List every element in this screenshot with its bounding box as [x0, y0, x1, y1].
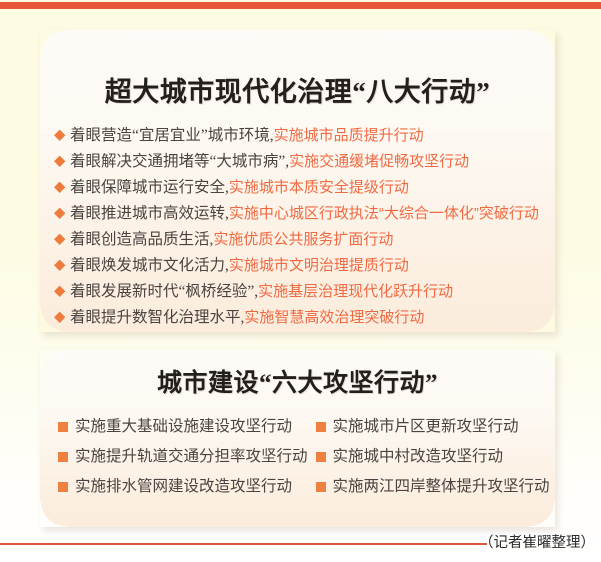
list-item: 实施提升轨道交通分担率攻坚行动: [58, 442, 308, 472]
list-item-accent: 实施城市本质安全提级行动: [229, 175, 409, 201]
list-item: 着眼创造高品质生活, 实施优质公共服务扩面行动: [55, 227, 545, 253]
list-item-accent: 实施城市品质提升行动: [274, 123, 424, 149]
list-item: 着眼发展新时代“枫桥经验”, 实施基层治理现代化跃升行动: [55, 279, 545, 305]
diamond-bullet-icon: [54, 312, 65, 323]
eight-actions-list: 着眼营造“宜居宜业”城市环境, 实施城市品质提升行动 着眼解决交通拥堵等“大城市…: [55, 123, 545, 331]
list-item-lead: 着眼提升数智化治理水平,: [70, 305, 244, 331]
diamond-bullet-icon: [54, 234, 65, 245]
diamond-bullet-icon: [54, 286, 65, 297]
card-one-title: 超大城市现代化治理“八大行动”: [40, 75, 555, 109]
list-item-lead: 着眼创造高品质生活,: [70, 227, 213, 253]
list-item-accent: 实施中心城区行政执法“大综合一体化”突破行动: [229, 201, 539, 227]
list-item-lead: 着眼营造“宜居宜业”城市环境,: [70, 123, 274, 149]
list-item: 着眼解决交通拥堵等“大城市病”, 实施交通缓堵促畅攻坚行动: [55, 149, 545, 175]
square-bullet-icon: [316, 422, 326, 432]
list-item-accent: 实施交通缓堵促畅攻坚行动: [289, 149, 469, 175]
six-actions-columns: 实施重大基础设施建设攻坚行动 实施提升轨道交通分担率攻坚行动 实施排水管网建设改…: [58, 412, 543, 502]
list-item-accent: 实施优质公共服务扩面行动: [213, 227, 393, 253]
list-item-label: 实施重大基础设施建设攻坚行动: [75, 412, 292, 442]
diamond-bullet-icon: [54, 260, 65, 271]
byline-credit: （记者崔曜整理）: [479, 534, 595, 552]
card-two-title: 城市建设“六大攻坚行动”: [40, 368, 555, 400]
list-item-accent: 实施基层治理现代化跃升行动: [258, 279, 453, 305]
list-item: 实施重大基础设施建设攻坚行动: [58, 412, 308, 442]
list-item-lead: 着眼焕发城市文化活力,: [70, 253, 229, 279]
list-item-accent: 实施智慧高效治理突破行动: [244, 305, 424, 331]
card-notch-bottom-right-icon: [529, 501, 555, 527]
list-item-lead: 着眼保障城市运行安全,: [70, 175, 229, 201]
list-item: 着眼推进城市高效运转, 实施中心城区行政执法“大综合一体化”突破行动: [55, 201, 545, 227]
list-item-label: 实施提升轨道交通分担率攻坚行动: [75, 442, 308, 472]
square-bullet-icon: [58, 452, 68, 462]
list-item: 实施城中村改造攻坚行动: [316, 442, 550, 472]
list-item-label: 实施城中村改造攻坚行动: [333, 442, 504, 472]
list-item: 实施两江四岸整体提升攻坚行动: [316, 472, 550, 502]
card-notch-bottom-left-icon: [40, 501, 66, 527]
list-item: 着眼营造“宜居宜业”城市环境, 实施城市品质提升行动: [55, 123, 545, 149]
list-item: 着眼焕发城市文化活力, 实施城市文明治理提质行动: [55, 253, 545, 279]
diamond-bullet-icon: [54, 182, 65, 193]
list-item: 实施排水管网建设改造攻坚行动: [58, 472, 308, 502]
list-item-label: 实施两江四岸整体提升攻坚行动: [333, 472, 550, 502]
top-accent-bar: [0, 2, 601, 9]
diamond-bullet-icon: [54, 130, 65, 141]
diamond-bullet-icon: [54, 208, 65, 219]
card-notch-top-right-icon: [529, 30, 555, 56]
footer-divider: [0, 543, 487, 545]
list-item-lead: 着眼解决交通拥堵等“大城市病”,: [70, 149, 289, 175]
square-bullet-icon: [316, 482, 326, 492]
six-actions-right-column: 实施城市片区更新攻坚行动 实施城中村改造攻坚行动 实施两江四岸整体提升攻坚行动: [316, 412, 550, 502]
six-actions-left-column: 实施重大基础设施建设攻坚行动 实施提升轨道交通分担率攻坚行动 实施排水管网建设改…: [58, 412, 308, 502]
list-item-accent: 实施城市文明治理提质行动: [229, 253, 409, 279]
diamond-bullet-icon: [54, 156, 65, 167]
list-item-lead: 着眼推进城市高效运转,: [70, 201, 229, 227]
list-item-lead: 着眼发展新时代“枫桥经验”,: [70, 279, 258, 305]
square-bullet-icon: [316, 452, 326, 462]
card-notch-top-left-icon: [40, 30, 66, 56]
list-item: 实施城市片区更新攻坚行动: [316, 412, 550, 442]
square-bullet-icon: [58, 482, 68, 492]
list-item: 着眼保障城市运行安全, 实施城市本质安全提级行动: [55, 175, 545, 201]
list-item-label: 实施排水管网建设改造攻坚行动: [75, 472, 292, 502]
card-six-actions: 城市建设“六大攻坚行动” 实施重大基础设施建设攻坚行动 实施提升轨道交通分担率攻…: [40, 350, 555, 527]
square-bullet-icon: [58, 422, 68, 432]
list-item: 着眼提升数智化治理水平, 实施智慧高效治理突破行动: [55, 305, 545, 331]
list-item-label: 实施城市片区更新攻坚行动: [333, 412, 519, 442]
card-eight-actions: 超大城市现代化治理“八大行动” 着眼营造“宜居宜业”城市环境, 实施城市品质提升…: [40, 30, 555, 332]
infographic-page: 超大城市现代化治理“八大行动” 着眼营造“宜居宜业”城市环境, 实施城市品质提升…: [0, 0, 601, 562]
